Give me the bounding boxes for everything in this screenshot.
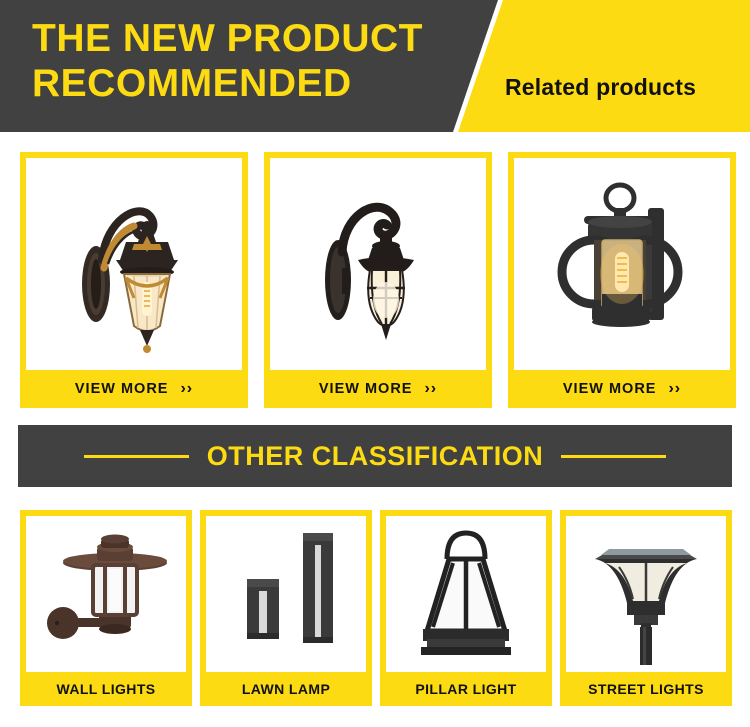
category-label-lawn-lamp: LAWN LAMP — [206, 672, 366, 706]
category-card-street-light[interactable]: STREET LIGHTS — [560, 510, 732, 706]
product-card-2[interactable]: VIEW MORE ›› — [264, 152, 492, 408]
category-image-lawn-lamp — [206, 516, 366, 672]
category-image-pillar-light — [386, 516, 546, 672]
chevron-right-icon: ›› — [668, 381, 681, 397]
category-label-wall-light: WALL LIGHTS — [26, 672, 186, 706]
category-card-wall-light[interactable]: WALL LIGHTS — [20, 510, 192, 706]
banner-rule-right — [561, 455, 666, 458]
chevron-right-icon: ›› — [424, 381, 437, 397]
ornate-bronze-wall-lantern-icon — [34, 164, 234, 364]
view-more-button-1[interactable]: VIEW MORE ›› — [26, 370, 242, 408]
chevron-right-icon: ›› — [180, 381, 193, 397]
product-image-round-frame-wall-lantern — [514, 158, 730, 370]
product-card-1[interactable]: VIEW MORE ›› — [20, 152, 248, 408]
product-card-3[interactable]: VIEW MORE ›› — [508, 152, 736, 408]
view-more-button-3[interactable]: VIEW MORE ›› — [514, 370, 730, 408]
banner-title: OTHER CLASSIFICATION — [207, 441, 544, 472]
view-more-label: VIEW MORE — [563, 381, 657, 397]
round-frame-wall-lantern-icon — [522, 164, 722, 364]
view-more-button-2[interactable]: VIEW MORE ›› — [270, 370, 486, 408]
category-card-lawn-lamp[interactable]: LAWN LAMP — [200, 510, 372, 706]
categories-row: WALL LIGHTS LAWN LAMP — [20, 510, 732, 706]
product-image-ornate-bronze-wall-lantern — [26, 158, 242, 370]
lawn-lamp-icon — [211, 519, 361, 669]
promo-banner-page: THE NEW PRODUCT RECOMMENDED Related prod… — [0, 0, 750, 727]
wall-light-icon — [31, 519, 181, 669]
view-more-label: VIEW MORE — [75, 381, 169, 397]
curved-arm-wall-lantern-icon — [278, 164, 478, 364]
banner-rule-left — [84, 455, 189, 458]
view-more-label: VIEW MORE — [319, 381, 413, 397]
header-subtitle: Related products — [505, 74, 696, 101]
category-image-wall-light — [26, 516, 186, 672]
page-header: THE NEW PRODUCT RECOMMENDED Related prod… — [0, 0, 750, 132]
pillar-light-icon — [391, 519, 541, 669]
other-classification-banner: OTHER CLASSIFICATION — [18, 425, 732, 487]
product-image-curved-arm-wall-lantern — [270, 158, 486, 370]
category-card-pillar-light[interactable]: PILLAR LIGHT — [380, 510, 552, 706]
category-label-street-light: STREET LIGHTS — [566, 672, 726, 706]
category-image-street-light — [566, 516, 726, 672]
category-label-pillar-light: PILLAR LIGHT — [386, 672, 546, 706]
page-title: THE NEW PRODUCT RECOMMENDED — [32, 16, 462, 106]
street-light-icon — [571, 519, 721, 669]
featured-products-row: VIEW MORE ›› — [20, 152, 732, 408]
